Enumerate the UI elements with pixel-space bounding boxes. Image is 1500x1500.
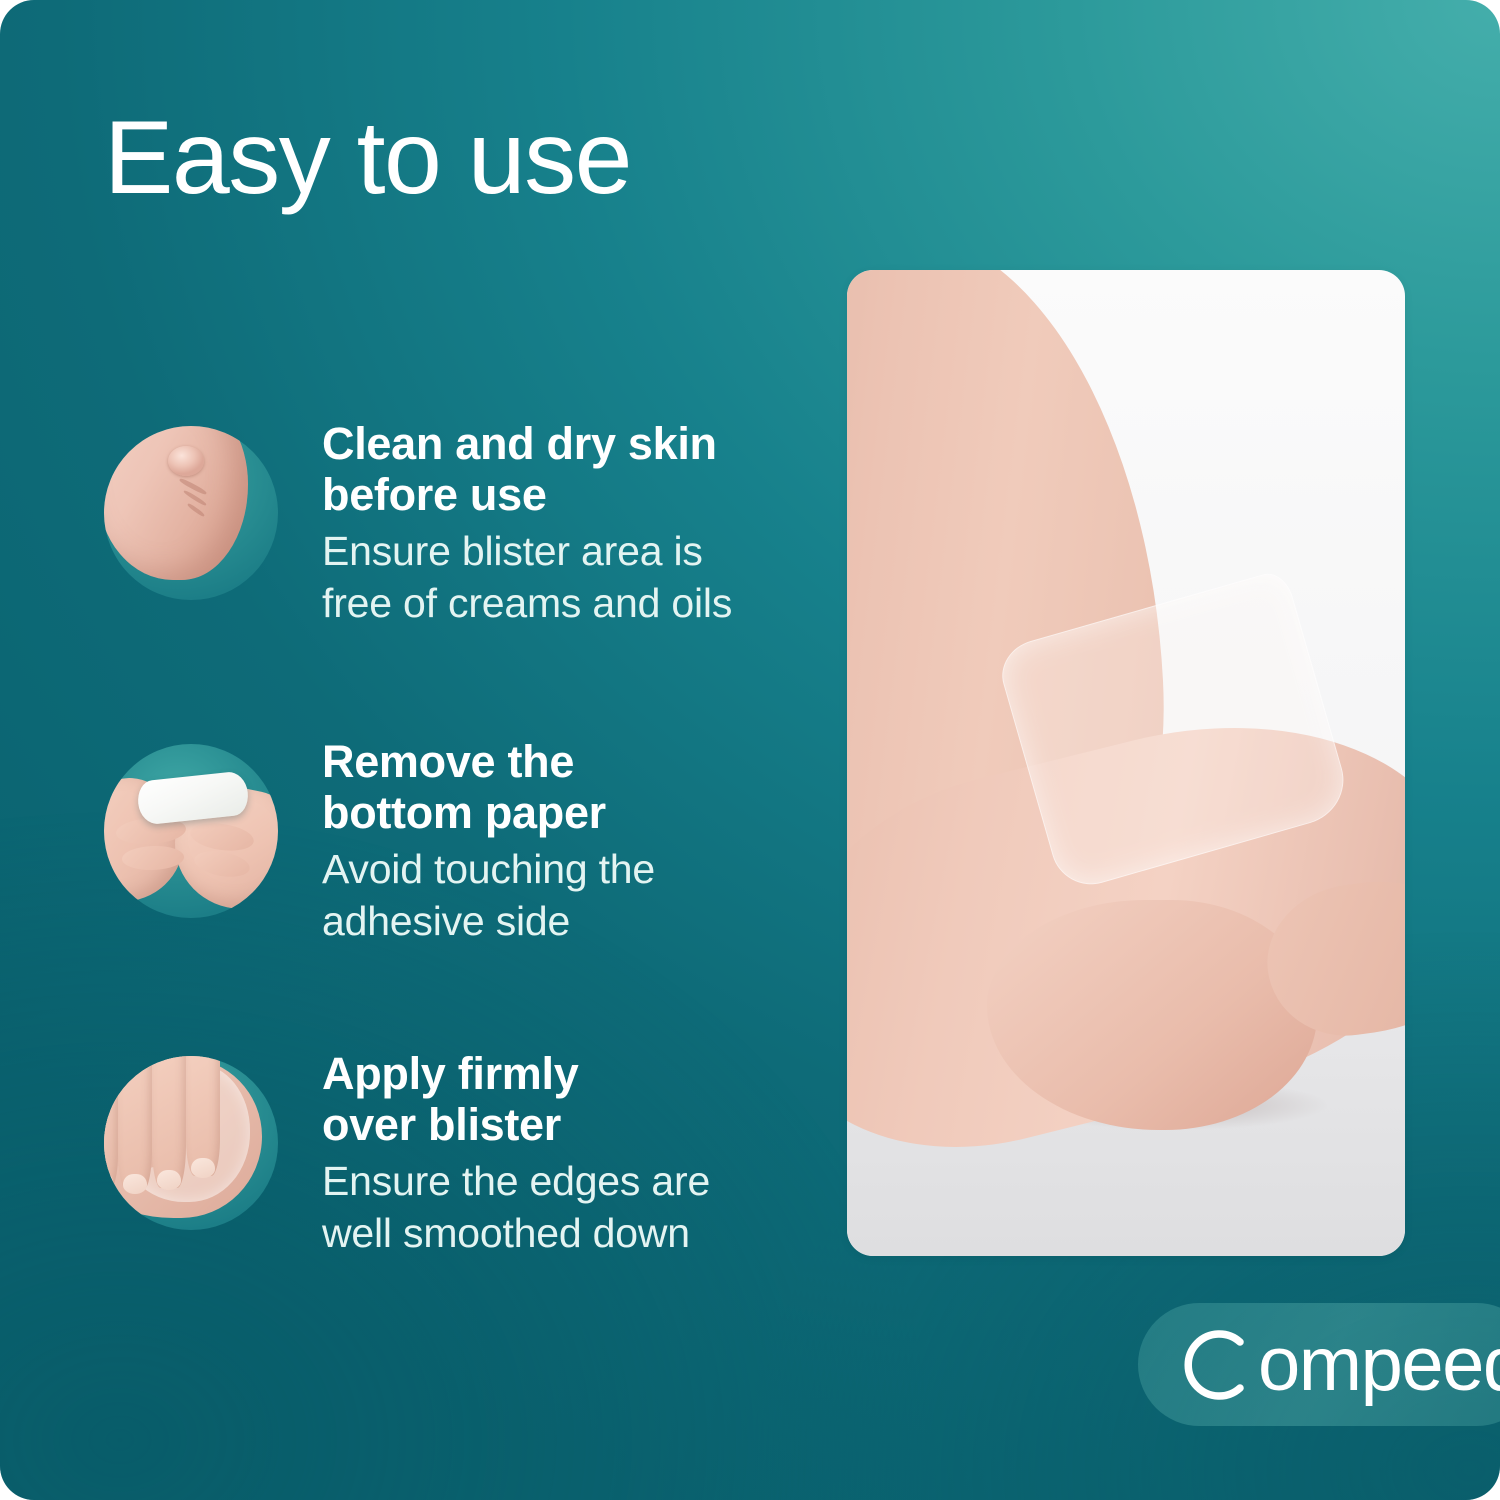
step-3-thumbnail [96, 1048, 286, 1238]
step-2-text: Remove the bottom paper Avoid touching t… [286, 736, 836, 948]
step-item-1: Clean and dry skin before use Ensure bli… [96, 418, 836, 630]
promo-card: Easy to use Clean and dry skin before us… [0, 0, 1500, 1500]
compeed-logo: ompeed ® [1170, 1322, 1500, 1408]
step-item-2: Remove the bottom paper Avoid touching t… [96, 736, 836, 948]
step-1-text: Clean and dry skin before use Ensure bli… [286, 418, 836, 630]
step-item-3: Apply firmly over blister Ensure the edg… [96, 1048, 836, 1260]
page-title: Easy to use [104, 104, 631, 212]
fingers-pressing-plaster-icon [104, 1056, 278, 1230]
step-3-title: Apply firmly over blister [322, 1048, 836, 1151]
product-photo [847, 270, 1405, 1256]
heel-with-blister-icon [104, 426, 278, 600]
step-1-thumbnail [96, 418, 286, 608]
step-1-description: Ensure blister area is free of creams an… [322, 525, 836, 630]
step-3-description: Ensure the edges are well smoothed down [322, 1155, 836, 1260]
compeed-c-mark-icon [1170, 1322, 1256, 1408]
step-2-description: Avoid touching the adhesive side [322, 843, 836, 948]
step-1-title: Clean and dry skin before use [322, 418, 836, 521]
compeed-wordmark: ompeed [1258, 1322, 1500, 1408]
step-3-text: Apply firmly over blister Ensure the edg… [286, 1048, 836, 1260]
step-2-thumbnail [96, 736, 286, 926]
hands-holding-plaster-icon [104, 744, 278, 918]
step-2-title: Remove the bottom paper [322, 736, 836, 839]
